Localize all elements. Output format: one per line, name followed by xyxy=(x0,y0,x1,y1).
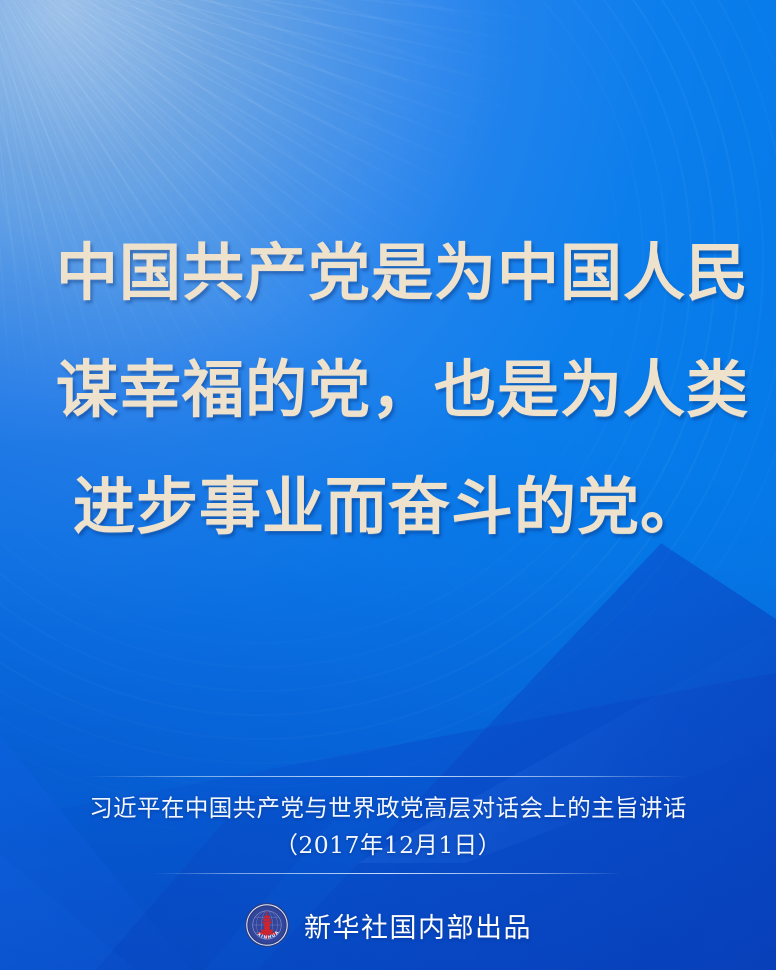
footer-credit: XINHUA 新华社国内部出品 xyxy=(0,902,776,948)
headline-line-2: 谋幸福的党，也是为人类 xyxy=(56,331,720,448)
divider-bottom xyxy=(153,873,623,874)
poster-canvas: 中国共产党是为中国人民 谋幸福的党，也是为人类 进步事业而奋斗的党。 习近平在中… xyxy=(0,0,776,970)
footer-label: 新华社国内部出品 xyxy=(304,906,532,945)
caption-date-line: （2017年12月1日） xyxy=(0,827,776,873)
headline-line-1: 中国共产党是为中国人民 xyxy=(56,214,720,331)
caption-source-line: 习近平在中国共产党与世界政党高层对话会上的主旨讲话 xyxy=(0,777,776,827)
xinhua-emblem-icon: XINHUA xyxy=(244,902,290,948)
headline-quote: 中国共产党是为中国人民 谋幸福的党，也是为人类 进步事业而奋斗的党。 xyxy=(0,214,776,565)
headline-line-3: 进步事业而奋斗的党。 xyxy=(56,448,720,565)
attribution-caption: 习近平在中国共产党与世界政党高层对话会上的主旨讲话 （2017年12月1日） xyxy=(0,776,776,874)
poster-content: 中国共产党是为中国人民 谋幸福的党，也是为人类 进步事业而奋斗的党。 习近平在中… xyxy=(0,0,776,970)
